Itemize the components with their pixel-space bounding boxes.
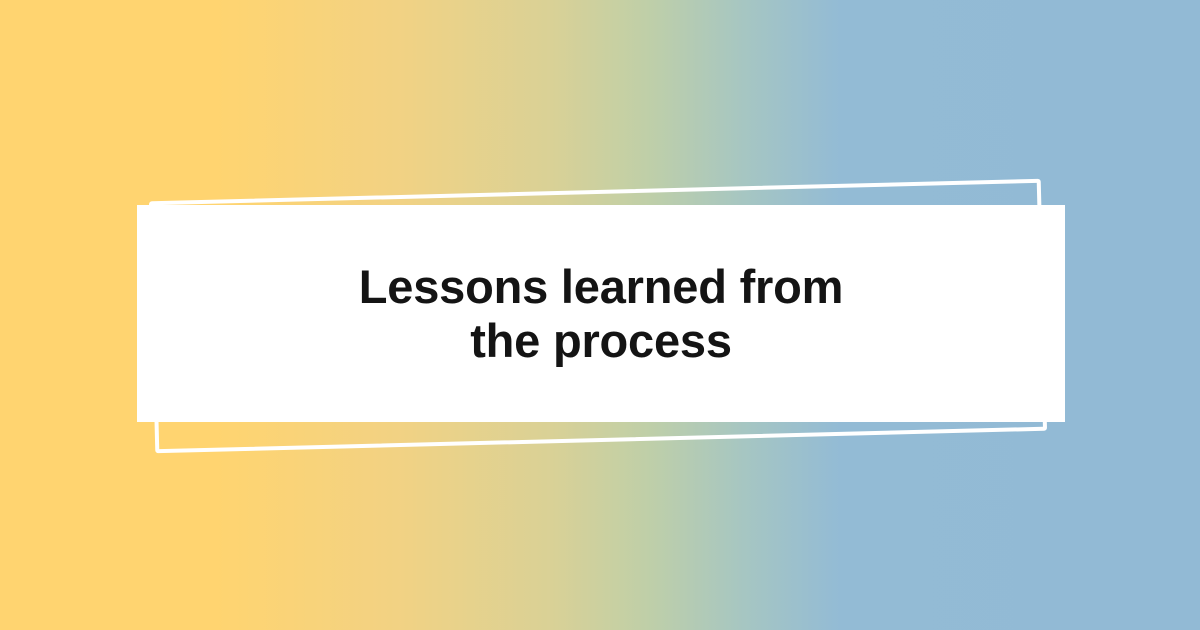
page-title: Lessons learned from the process bbox=[321, 260, 881, 368]
title-card: Lessons learned from the process bbox=[137, 205, 1065, 422]
title-slide: Lessons learned from the process bbox=[0, 0, 1200, 630]
